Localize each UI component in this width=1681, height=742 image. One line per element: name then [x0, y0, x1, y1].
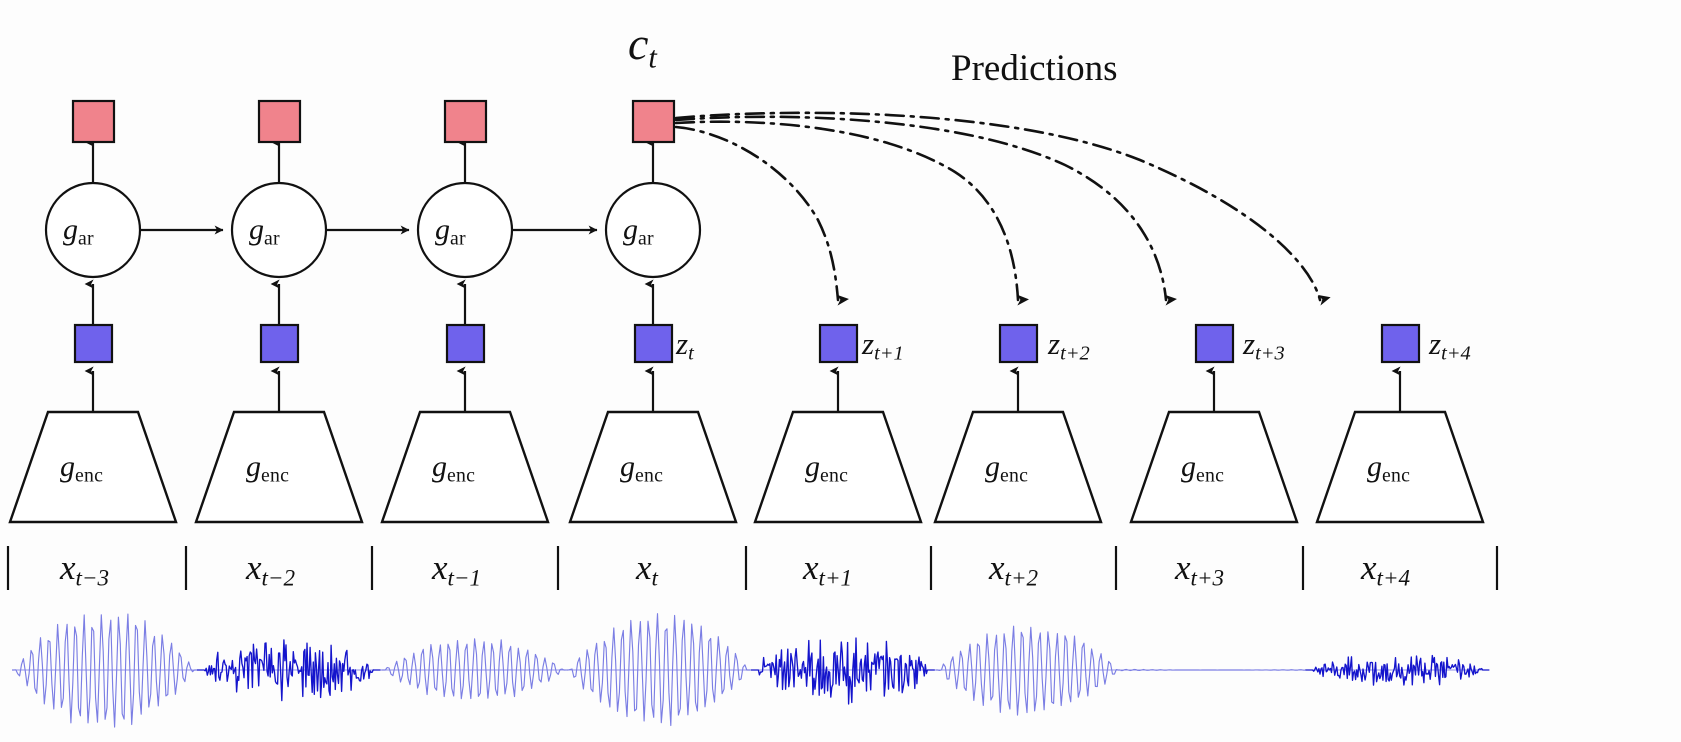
- genc-label-7: genc: [1367, 450, 1410, 488]
- latent-square-zt3: [1196, 325, 1233, 362]
- segment-ticks: [8, 546, 1497, 590]
- waveform-segment: [751, 638, 935, 704]
- predictions-label: Predictions: [951, 47, 1117, 90]
- latent-square-zt: [635, 325, 672, 362]
- genc-label-4: genc: [805, 450, 848, 488]
- input-label-3: xt: [636, 548, 658, 591]
- prediction-curve-t1: [676, 127, 838, 300]
- gar-label-3: gar: [623, 213, 654, 251]
- latent-square-2: [447, 325, 484, 362]
- input-label-4: xt+1: [803, 548, 852, 591]
- latent-label-zt4: zt+4: [1429, 326, 1471, 366]
- context-square-0: [73, 101, 114, 142]
- context-vector-label: ct: [628, 17, 657, 76]
- gar-label-1: gar: [249, 213, 280, 251]
- autoregressive-layer: [46, 183, 700, 277]
- genc-label-2: genc: [432, 450, 475, 488]
- context-square-2: [445, 101, 486, 142]
- genc-label-5: genc: [985, 450, 1028, 488]
- genc-label-6: genc: [1181, 450, 1224, 488]
- input-label-7: xt+4: [1361, 548, 1410, 591]
- latent-label-zt2: zt+2: [1048, 326, 1090, 366]
- ct-subscript: t: [648, 41, 656, 75]
- diagram-canvas: [0, 0, 1681, 742]
- encoder-trapezoids: [10, 412, 1483, 522]
- input-label-0: xt−3: [60, 548, 109, 591]
- genc-label-0: genc: [60, 450, 103, 488]
- latent-square-zt2: [1000, 325, 1037, 362]
- prediction-curve-t2: [676, 122, 1018, 300]
- context-square-1: [259, 101, 300, 142]
- gar-label-2: gar: [435, 213, 466, 251]
- latent-square-zt1: [820, 325, 857, 362]
- genc-label-1: genc: [246, 450, 289, 488]
- waveform-segment: [936, 626, 1120, 715]
- input-label-1: xt−2: [246, 548, 295, 591]
- waveform-segment: [382, 639, 566, 699]
- prediction-curves: [676, 113, 1320, 300]
- gar-label-0: gar: [63, 213, 94, 251]
- latent-square-0: [75, 325, 112, 362]
- input-label-2: xt−1: [432, 548, 481, 591]
- latent-label-zt: zt: [676, 326, 694, 366]
- latent-to-gar-arrows: [93, 284, 653, 325]
- latent-square-1: [261, 325, 298, 362]
- latent-label-zt1: zt+1: [862, 326, 904, 366]
- context-squares: [73, 101, 674, 142]
- genc-label-3: genc: [620, 450, 663, 488]
- latent-squares: [75, 325, 1419, 362]
- ct-symbol: c: [628, 18, 648, 69]
- cpc-diagram-figure: ct Predictions gar gar gar gar genc genc…: [0, 0, 1681, 742]
- audio-waveform: [12, 614, 1490, 727]
- context-square-ct: [633, 101, 674, 142]
- latent-label-zt3: zt+3: [1243, 326, 1285, 366]
- context-output-arrows: [93, 142, 653, 182]
- input-label-6: xt+3: [1175, 548, 1224, 591]
- latent-square-zt4: [1382, 325, 1419, 362]
- input-label-5: xt+2: [989, 548, 1038, 591]
- waveform-segment: [12, 614, 196, 727]
- encoder-to-latent-arrows: [93, 371, 1400, 412]
